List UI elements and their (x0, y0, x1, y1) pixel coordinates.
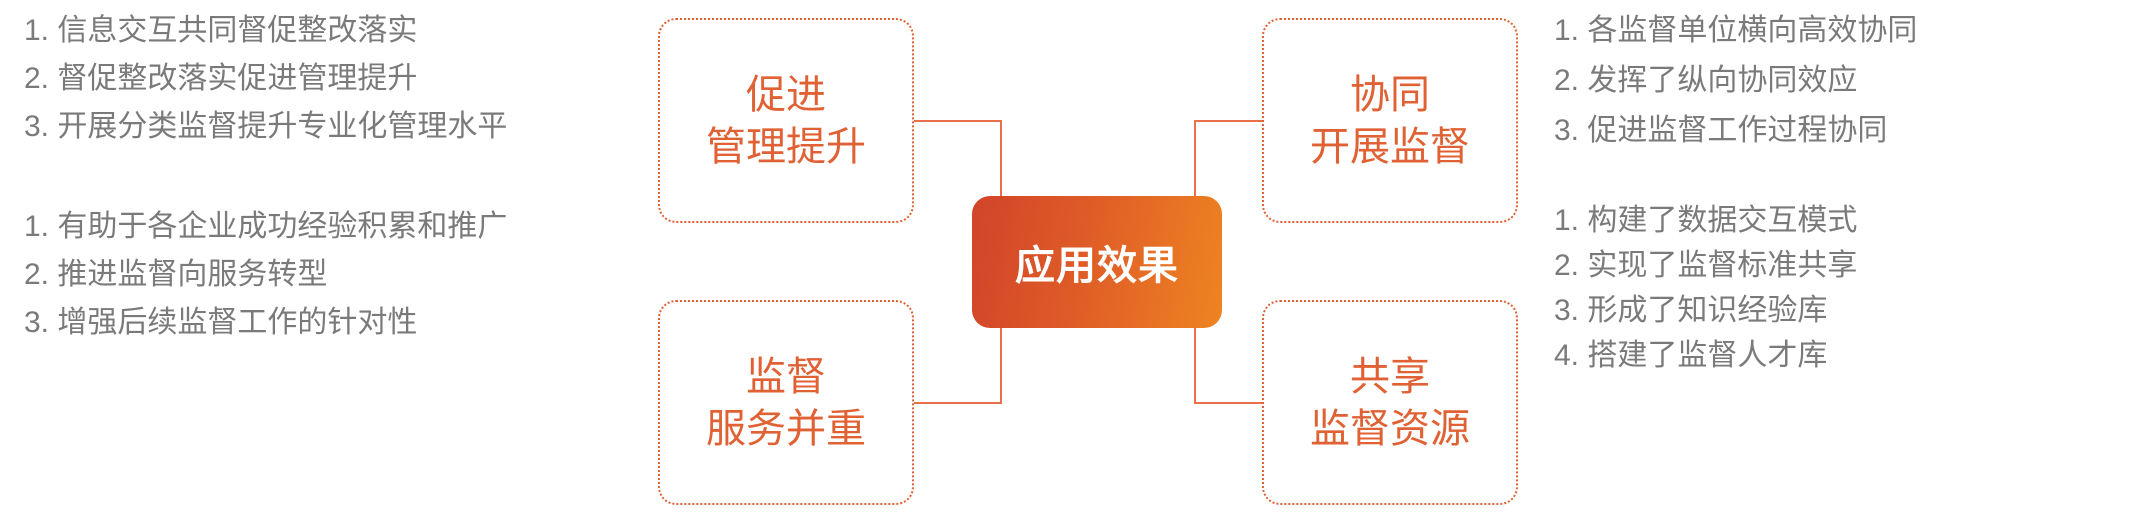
connector-service-horizontal (914, 402, 1002, 404)
list-item: 2. 发挥了纵向协同效应 (1554, 66, 1917, 96)
connector-cooperate-vertical (1194, 120, 1196, 198)
connector-promote-vertical (1000, 120, 1002, 198)
node-label-line2: 管理提升 (706, 121, 866, 173)
node-label-line2: 监督资源 (1310, 403, 1470, 455)
list-item: 3. 增强后续监督工作的针对性 (24, 308, 507, 338)
node-shared-resources[interactable]: 共享 监督资源 (1262, 300, 1518, 505)
connector-cooperate-horizontal (1194, 120, 1264, 122)
list-top-right: 1. 各监督单位横向高效协同 2. 发挥了纵向协同效应 3. 促进监督工作过程协… (1554, 16, 1917, 166)
list-item: 3. 开展分类监督提升专业化管理水平 (24, 112, 507, 142)
node-promote-management[interactable]: 促进 管理提升 (658, 18, 914, 223)
connector-share-vertical (1194, 326, 1196, 404)
diagram-canvas: 1. 信息交互共同督促整改落实 2. 督促整改落实促进管理提升 3. 开展分类监… (0, 0, 2136, 524)
list-item: 1. 各监督单位横向高效协同 (1554, 16, 1917, 46)
connector-service-vertical (1000, 326, 1002, 404)
node-cooperative-supervision[interactable]: 协同 开展监督 (1262, 18, 1518, 223)
connector-promote-horizontal (914, 120, 1002, 122)
list-bottom-left: 1. 有助于各企业成功经验积累和推广 2. 推进监督向服务转型 3. 增强后续监… (24, 212, 507, 356)
list-item: 2. 推进监督向服务转型 (24, 260, 507, 290)
node-label-line2: 服务并重 (706, 403, 866, 455)
list-top-left: 1. 信息交互共同督促整改落实 2. 督促整改落实促进管理提升 3. 开展分类监… (24, 16, 507, 160)
list-item: 3. 促进监督工作过程协同 (1554, 116, 1917, 146)
node-label-line1: 协同 (1350, 69, 1430, 121)
list-item: 3. 形成了知识经验库 (1554, 296, 1857, 326)
node-label-line1: 共享 (1350, 351, 1430, 403)
node-label-line1: 促进 (746, 69, 826, 121)
connector-share-horizontal (1194, 402, 1264, 404)
node-supervision-service[interactable]: 监督 服务并重 (658, 300, 914, 505)
list-item: 4. 搭建了监督人才库 (1554, 341, 1857, 371)
list-item: 2. 实现了监督标准共享 (1554, 251, 1857, 281)
list-bottom-right: 1. 构建了数据交互模式 2. 实现了监督标准共享 3. 形成了知识经验库 4.… (1554, 206, 1857, 386)
node-label-line1: 监督 (746, 351, 826, 403)
node-label-line2: 开展监督 (1310, 121, 1470, 173)
list-item: 2. 督促整改落实促进管理提升 (24, 64, 507, 94)
list-item: 1. 信息交互共同督促整改落实 (24, 16, 507, 46)
center-node-application-effect[interactable]: 应用效果 (972, 196, 1222, 328)
center-node-label: 应用效果 (1015, 233, 1179, 291)
list-item: 1. 构建了数据交互模式 (1554, 206, 1857, 236)
list-item: 1. 有助于各企业成功经验积累和推广 (24, 212, 507, 242)
